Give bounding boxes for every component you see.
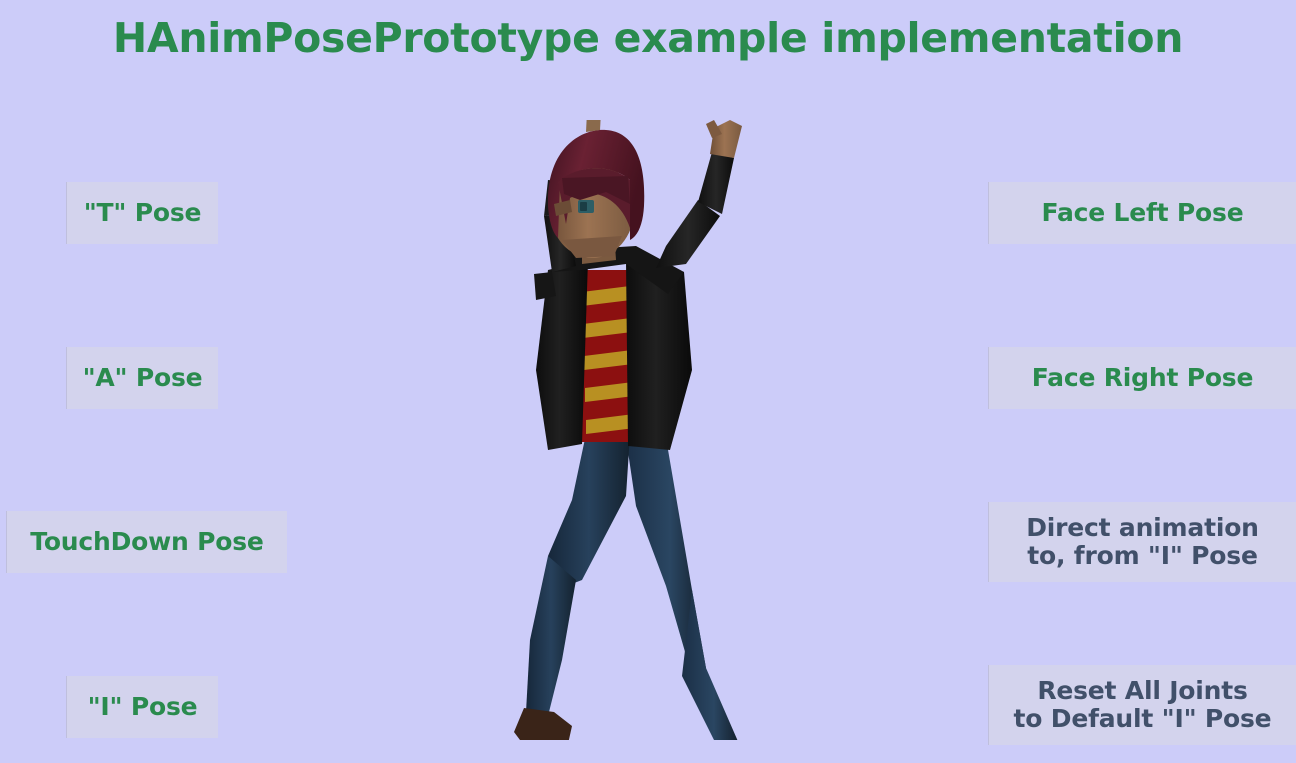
face-right-pose-button[interactable]: Face Right Pose xyxy=(988,347,1296,409)
reset-all-joints-button[interactable]: Reset All Joints to Default "I" Pose xyxy=(988,665,1296,745)
avatar-leg-far xyxy=(626,438,760,740)
touchdown-pose-button[interactable]: TouchDown Pose xyxy=(6,511,287,573)
humanoid-avatar xyxy=(430,120,870,740)
avatar-torso xyxy=(536,246,692,450)
t-pose-button[interactable]: "T" Pose xyxy=(66,182,218,244)
avatar-leg-near xyxy=(514,434,630,740)
avatar-arm-lowered xyxy=(534,180,576,300)
face-left-pose-button[interactable]: Face Left Pose xyxy=(988,182,1296,244)
avatar-head xyxy=(548,120,644,264)
direct-animation-button[interactable]: Direct animation to, from "I" Pose xyxy=(988,502,1296,582)
avatar-viewport xyxy=(430,120,870,740)
a-pose-button[interactable]: "A" Pose xyxy=(66,347,218,409)
app-root: HAnimPosePrototype example implementatio… xyxy=(0,0,1296,763)
avatar-arm-raised xyxy=(656,120,742,268)
i-pose-button[interactable]: "I" Pose xyxy=(66,676,218,738)
avatar-scarf-stripes xyxy=(582,286,635,434)
page-title: HAnimPosePrototype example implementatio… xyxy=(0,14,1296,62)
